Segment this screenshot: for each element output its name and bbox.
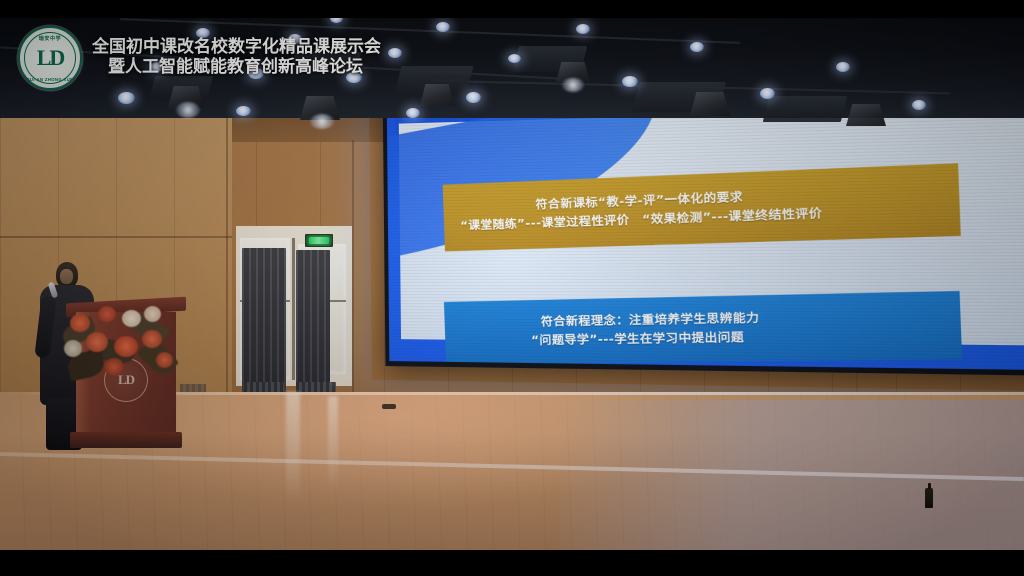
flower bbox=[64, 340, 82, 357]
flower bbox=[70, 314, 90, 332]
ceiling-lamp bbox=[912, 100, 926, 110]
flower bbox=[98, 306, 116, 322]
ceiling-lamp bbox=[236, 106, 251, 116]
stage-spotlight bbox=[420, 84, 454, 106]
ceiling-lamp bbox=[508, 54, 521, 63]
letterbox-bottom bbox=[0, 550, 1024, 576]
slide-blue-textbox: 符合新程理念：注重培养学生思辨能力 “问题导学”---学生在学习中提出问题 bbox=[444, 291, 962, 365]
water-bottle bbox=[925, 488, 933, 508]
ceiling-lamp bbox=[118, 92, 135, 104]
ceiling-panel bbox=[763, 96, 847, 122]
wall-seam bbox=[352, 140, 354, 410]
school-crest-logo: 瑞安中学 LD RUI AN ZHONG XUE bbox=[18, 26, 82, 90]
ceiling-lamp bbox=[406, 108, 420, 118]
floral-arrangement bbox=[56, 300, 186, 390]
ceiling-lamp bbox=[436, 22, 450, 32]
curtain-right bbox=[296, 250, 330, 396]
exit-sign bbox=[305, 234, 333, 247]
flower bbox=[144, 306, 161, 322]
flower bbox=[142, 330, 162, 348]
event-title-line-1: 全国初中课改名校数字化精品课展示会 bbox=[92, 38, 381, 58]
podium-base bbox=[70, 432, 182, 448]
floor-microphone bbox=[382, 404, 396, 409]
presenter-face bbox=[60, 269, 73, 284]
event-title: 全国初中课改名校数字化精品课展示会 暨人工智能赋能教育创新高峰论坛 bbox=[92, 38, 381, 77]
flower bbox=[104, 358, 124, 376]
flower bbox=[114, 336, 138, 357]
flower bbox=[86, 332, 108, 352]
ceiling-lamp bbox=[576, 24, 590, 34]
ceiling-lamp bbox=[622, 76, 638, 87]
floor-reflection bbox=[286, 392, 300, 502]
ceiling-lamp bbox=[760, 88, 775, 99]
wall-seam bbox=[226, 110, 228, 410]
ceiling-lamp bbox=[466, 92, 481, 103]
spotlight-glow bbox=[562, 78, 584, 92]
ceiling-lamp bbox=[690, 42, 704, 52]
stage-spotlight bbox=[690, 92, 730, 116]
video-frame: 符合新课标“教-学-评”一体化的要求 “课堂随练”---课堂过程性评价 “效果检… bbox=[0, 0, 1024, 576]
ceiling-lamp bbox=[388, 48, 402, 58]
flower bbox=[122, 310, 141, 327]
spotlight-glow bbox=[310, 114, 334, 129]
letterbox-top bbox=[0, 0, 1024, 18]
spotlight-glow bbox=[176, 102, 200, 118]
flower bbox=[156, 352, 173, 368]
window-mullion bbox=[292, 238, 295, 380]
ceiling-lamp bbox=[836, 62, 850, 72]
logo-monogram: LD bbox=[37, 47, 64, 69]
event-title-line-2: 暨人工智能赋能教育创新高峰论坛 bbox=[108, 58, 381, 78]
logo-arc-bottom-text: RUI AN ZHONG XUE bbox=[20, 77, 80, 82]
logo-arc-top-text: 瑞安中学 bbox=[20, 35, 80, 42]
floor-reflection bbox=[328, 396, 338, 492]
exit-sign-glow bbox=[309, 237, 329, 244]
curtain-left bbox=[242, 248, 286, 394]
slide-content-area: 符合新课标“教-学-评”一体化的要求 “课堂随练”---课堂过程性评价 “效果检… bbox=[399, 104, 1024, 345]
broadcast-title-overlay: 瑞安中学 LD RUI AN ZHONG XUE 全国初中课改名校数字化精品课展… bbox=[18, 26, 381, 90]
wall-seam bbox=[0, 236, 232, 238]
stage-spotlight bbox=[846, 104, 886, 126]
